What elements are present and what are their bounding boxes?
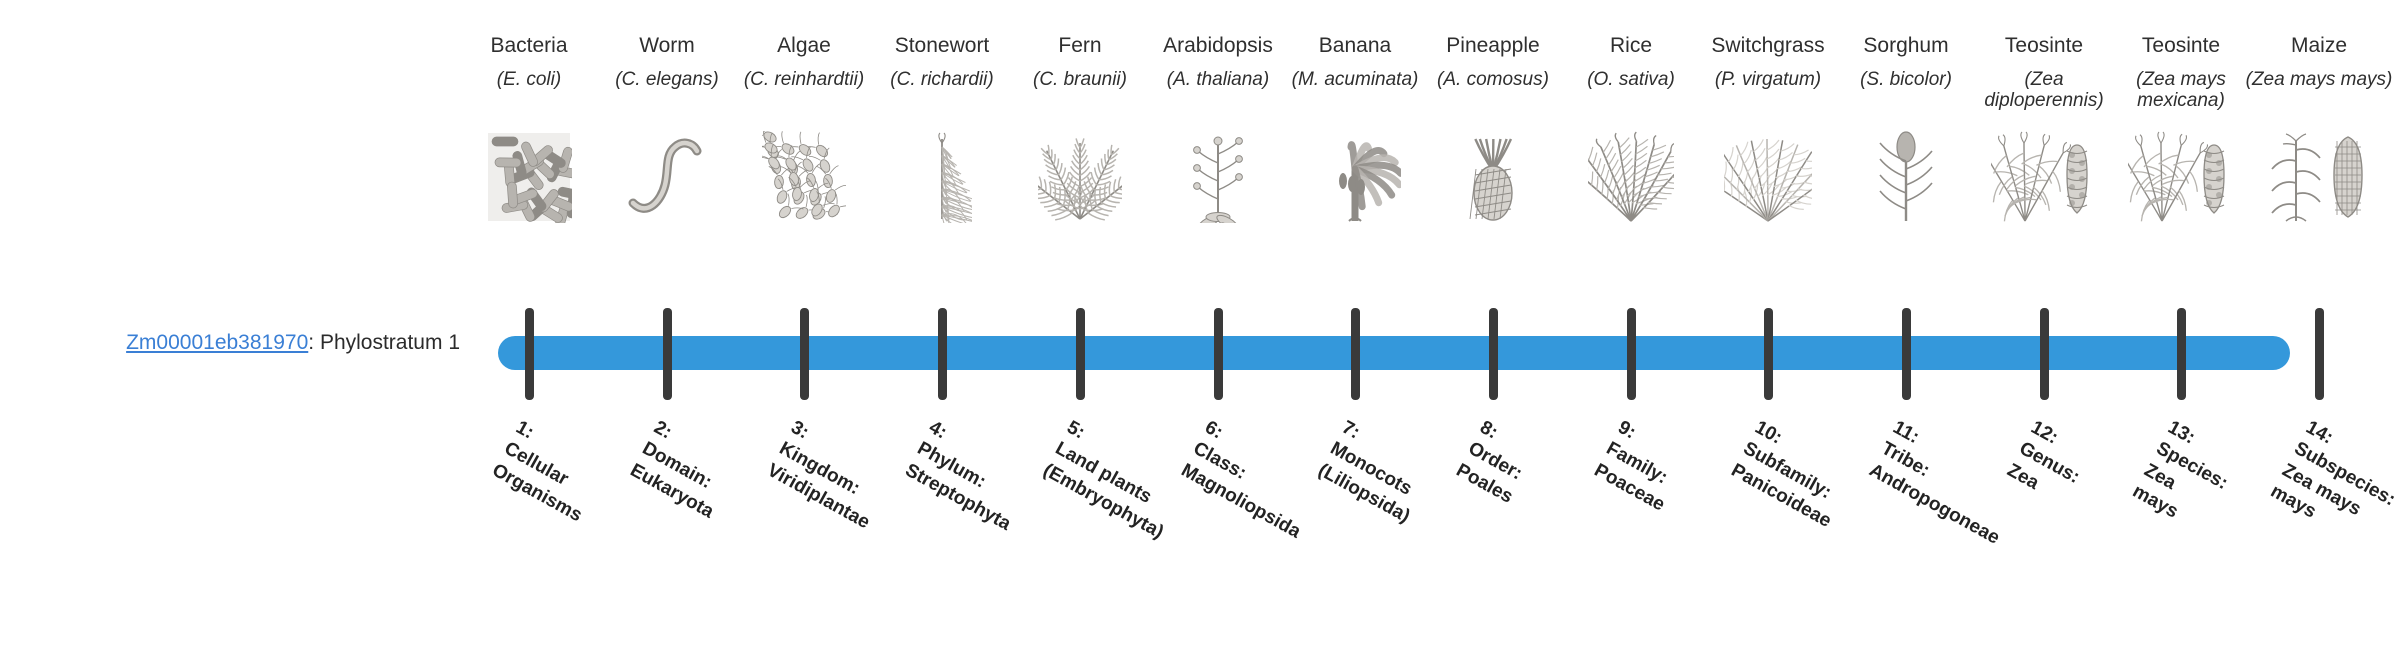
species-common-name: Arabidopsis xyxy=(1143,34,1293,60)
phylostratum-tick[interactable] xyxy=(1489,308,1498,400)
species-scientific-name: (C. reinhardtii) xyxy=(729,69,879,121)
phylostratigraphy-figure: Zm00001eb381970: Phylostratum 1 Bacteria… xyxy=(0,0,2400,580)
rice-illustration xyxy=(1556,127,1706,223)
gene-label-separator: : xyxy=(308,331,320,354)
species-column: Rice(O. sativa) xyxy=(1556,34,1706,223)
species-scientific-name: (C. richardii) xyxy=(867,69,1017,121)
phylostratum-tick[interactable] xyxy=(1351,308,1360,400)
species-common-name: Pineapple xyxy=(1418,34,1568,60)
species-common-name: Teosinte xyxy=(1969,34,2119,60)
species-column: Algae(C. reinhardtii) xyxy=(729,34,879,223)
species-common-name: Stonewort xyxy=(867,34,1017,60)
phylostratum-tick[interactable] xyxy=(1214,308,1223,400)
species-scientific-name: (A. comosus) xyxy=(1418,69,1568,121)
species-scientific-name: (O. sativa) xyxy=(1556,69,1706,121)
sorghum-illustration xyxy=(1831,127,1981,223)
phylostratum-tick[interactable] xyxy=(938,308,947,400)
species-column: Worm(C. elegans) xyxy=(592,34,742,223)
species-common-name: Teosinte xyxy=(2106,34,2256,60)
species-common-name: Banana xyxy=(1280,34,1430,60)
species-scientific-name: (Zea diploperennis) xyxy=(1969,69,2119,121)
phylostratum-tick[interactable] xyxy=(663,308,672,400)
species-column: Arabidopsis(A. thaliana) xyxy=(1143,34,1293,223)
pineapple-illustration xyxy=(1418,127,1568,223)
algae-illustration xyxy=(729,127,879,223)
maize-illustration xyxy=(2244,127,2394,223)
species-column: Sorghum(S. bicolor) xyxy=(1831,34,1981,223)
phylostratum-tick[interactable] xyxy=(2177,308,2186,400)
species-scientific-name: (S. bicolor) xyxy=(1831,69,1981,121)
phylostratum-bar[interactable] xyxy=(498,336,2290,370)
species-common-name: Rice xyxy=(1556,34,1706,60)
species-common-name: Switchgrass xyxy=(1693,34,1843,60)
species-common-name: Sorghum xyxy=(1831,34,1981,60)
species-common-name: Algae xyxy=(729,34,879,60)
species-column: Stonewort(C. richardii) xyxy=(867,34,1017,223)
phylostratum-tick[interactable] xyxy=(800,308,809,400)
species-common-name: Maize xyxy=(2244,34,2394,60)
fern-illustration xyxy=(1005,127,1155,223)
worm-illustration xyxy=(592,127,742,223)
species-common-name: Fern xyxy=(1005,34,1155,60)
gene-phylostratum-value: Phylostratum 1 xyxy=(320,331,460,354)
species-column: Pineapple(A. comosus) xyxy=(1418,34,1568,223)
phylostratum-tick[interactable] xyxy=(1627,308,1636,400)
species-scientific-name: (E. coli) xyxy=(454,69,604,121)
banana-illustration xyxy=(1280,127,1430,223)
species-scientific-name: (A. thaliana) xyxy=(1143,69,1293,121)
species-common-name: Bacteria xyxy=(454,34,604,60)
gene-id-link[interactable]: Zm00001eb381970 xyxy=(126,331,308,354)
teosinte-mexicana-illustration xyxy=(2106,127,2256,223)
phylostratum-tick[interactable] xyxy=(2315,308,2324,400)
species-column: Fern(C. braunii) xyxy=(1005,34,1155,223)
arabidopsis-illustration xyxy=(1143,127,1293,223)
species-common-name: Worm xyxy=(592,34,742,60)
stonewort-illustration xyxy=(867,127,1017,223)
phylostratum-tick[interactable] xyxy=(2040,308,2049,400)
species-scientific-name: (M. acuminata) xyxy=(1280,69,1430,121)
switchgrass-illustration xyxy=(1693,127,1843,223)
species-column: Maize(Zea mays mays) xyxy=(2244,34,2394,223)
species-scientific-name: (C. braunii) xyxy=(1005,69,1155,121)
species-column: Teosinte(Zea diploperennis) xyxy=(1969,34,2119,223)
teosinte-diploperennis-illustration xyxy=(1969,127,2119,223)
species-column: Switchgrass(P. virgatum) xyxy=(1693,34,1843,223)
species-column: Bacteria(E. coli) xyxy=(454,34,604,223)
phylostratum-tick[interactable] xyxy=(525,308,534,400)
phylostratum-tick[interactable] xyxy=(1076,308,1085,400)
bacteria-illustration xyxy=(454,127,604,223)
phylostratum-tick[interactable] xyxy=(1764,308,1773,400)
phylostratum-tick[interactable] xyxy=(1902,308,1911,400)
species-scientific-name: (P. virgatum) xyxy=(1693,69,1843,121)
species-scientific-name: (Zea mays mays) xyxy=(2244,69,2394,121)
species-scientific-name: (C. elegans) xyxy=(592,69,742,121)
species-column: Teosinte(Zea mays mexicana) xyxy=(2106,34,2256,223)
gene-phylostratum-label: Zm00001eb381970: Phylostratum 1 xyxy=(40,332,460,353)
species-scientific-name: (Zea mays mexicana) xyxy=(2106,69,2256,121)
species-column: Banana(M. acuminata) xyxy=(1280,34,1430,223)
